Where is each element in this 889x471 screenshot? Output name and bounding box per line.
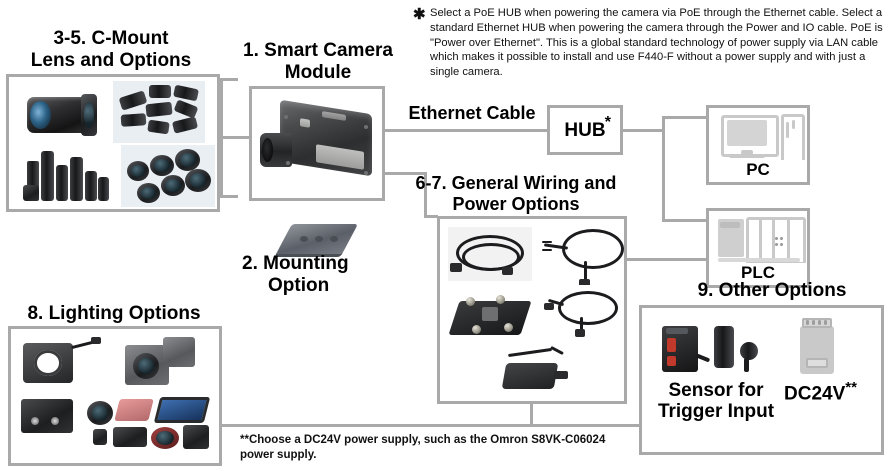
plc-icon	[715, 215, 807, 263]
photo-bar-light	[17, 391, 85, 445]
connector-bottom-bus	[222, 424, 642, 427]
photo-coaxial-light	[115, 333, 203, 393]
dc24v-superscript: **	[845, 379, 857, 396]
hub-box[interactable]: HUB *	[547, 105, 623, 155]
photo-power-io-cable	[540, 223, 624, 285]
photo-ethernet-cable	[448, 227, 532, 281]
photo-lens-group	[113, 81, 205, 143]
trigger-sensor-label: Sensor for Trigger Input	[648, 380, 784, 423]
photo-smart-camera	[256, 93, 380, 196]
connector-hub-to-plc	[662, 219, 706, 222]
lighting-options-title: 8. Lighting Options	[6, 303, 222, 325]
pc-label: PC	[709, 160, 807, 180]
hub-superscript: *	[605, 114, 611, 132]
photo-extension-tubes	[21, 147, 113, 207]
photo-dc24v-power-supply	[782, 314, 852, 380]
other-options-title: 9. Other Options	[660, 280, 884, 302]
lens-options-title: 3-5. C-Mount Lens and Options	[6, 28, 216, 71]
connector-wiring-enter	[424, 215, 438, 218]
photo-io-cable	[544, 287, 624, 339]
connector-camera-to-hub	[385, 129, 550, 132]
ethernet-cable-label: Ethernet Cable	[396, 103, 548, 123]
wiring-options-box[interactable]	[437, 216, 627, 404]
lens-options-box[interactable]	[6, 74, 220, 212]
connector-lens-bracket-bottom	[220, 195, 238, 198]
top-note: ✱ Select a PoE HUB when powering the cam…	[413, 6, 887, 80]
pc-box[interactable]: PC	[706, 105, 810, 185]
photo-ring-light	[19, 335, 105, 391]
photo-c-mount-lens	[19, 85, 107, 145]
mounting-option-title: 2. Mounting Option	[236, 253, 372, 296]
other-options-box[interactable]: Sensor for Trigger Input DC24V**	[639, 305, 884, 455]
photo-filters	[121, 145, 215, 207]
photo-trigger-sensor	[656, 316, 772, 378]
connector-hub-to-pc	[662, 116, 706, 119]
photo-junction-block	[446, 285, 538, 345]
connector-hub-split-vertical	[662, 116, 665, 222]
wiring-options-title: 6-7. General Wiring and Power Options	[404, 173, 628, 214]
photo-light-accessories	[85, 395, 215, 457]
lighting-options-box[interactable]	[8, 326, 222, 466]
connector-hub-out	[622, 129, 665, 132]
camera-module-box[interactable]	[249, 86, 385, 201]
diagram-canvas: ✱ Select a PoE HUB when powering the cam…	[0, 0, 889, 471]
bottom-note: **Choose a DC24V power supply, such as t…	[240, 433, 630, 463]
top-note-text: Select a PoE HUB when powering the camer…	[413, 6, 887, 80]
star-icon: ✱	[413, 7, 426, 22]
dc24v-label: DC24V**	[784, 380, 880, 405]
plc-box[interactable]: PLC	[706, 208, 810, 288]
connector-lens-bracket-top	[220, 78, 238, 81]
connector-wiring-to-plc	[627, 258, 706, 261]
camera-module-title: 1. Smart Camera Module	[238, 40, 398, 83]
connector-lens-bracket-vertical	[220, 78, 223, 198]
connector-wiring-to-bus	[530, 404, 533, 427]
pc-icon	[715, 112, 807, 160]
photo-power-adapter	[492, 343, 584, 399]
